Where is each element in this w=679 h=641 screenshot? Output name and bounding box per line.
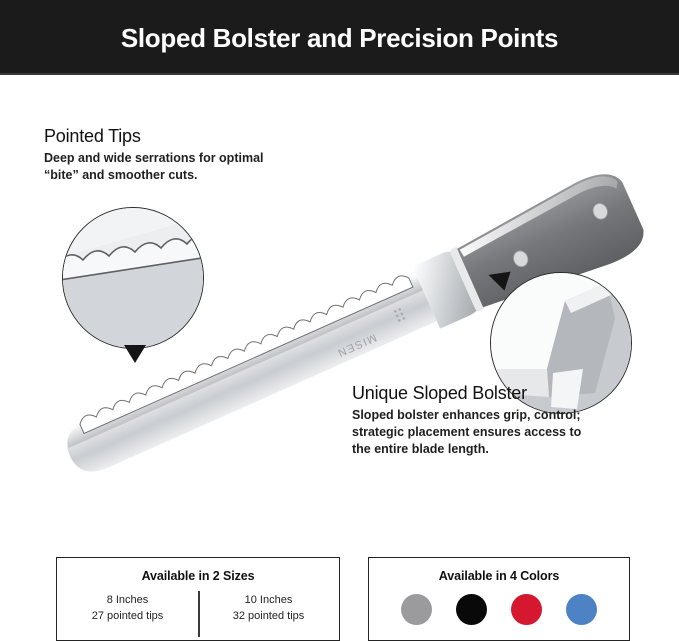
callout-body-sloped-bolster: Sloped bolster enhances grip, control; s…: [352, 407, 592, 458]
page-title: Sloped Bolster and Precision Points: [121, 25, 558, 51]
size-option-10in: 10 Inches 32 pointed tips: [198, 593, 339, 624]
callout-body-pointed-tips: Deep and wide serrations for optimal “bi…: [44, 150, 294, 184]
sizes-columns: 8 Inches 27 pointed tips 10 Inches 32 po…: [57, 593, 339, 624]
color-swatch-black[interactable]: [456, 594, 487, 625]
header-banner: Sloped Bolster and Precision Points: [0, 0, 679, 75]
size-option-8in: 8 Inches 27 pointed tips: [57, 593, 198, 624]
callout-pointed-tips: Pointed Tips Deep and wide serrations fo…: [44, 126, 294, 184]
size-tips-10in: 32 pointed tips: [198, 609, 339, 625]
callout-sloped-bolster: Unique Sloped Bolster Sloped bolster enh…: [352, 383, 592, 458]
callout-heading-pointed-tips: Pointed Tips: [44, 126, 294, 147]
color-swatch-red[interactable]: [511, 594, 542, 625]
header-divider: [0, 73, 679, 75]
size-label-10in: 10 Inches: [198, 593, 339, 609]
pointer-tips: [124, 345, 146, 363]
infographic-canvas: Sloped Bolster and Precision Points: [0, 0, 679, 641]
size-label-8in: 8 Inches: [57, 593, 198, 609]
color-swatch-row: [369, 594, 629, 625]
size-tips-8in: 27 pointed tips: [57, 609, 198, 625]
available-sizes-box: Available in 2 Sizes 8 Inches 27 pointed…: [56, 557, 340, 641]
sizes-box-title: Available in 2 Sizes: [57, 569, 339, 583]
magnifier-pointed-tips: [62, 207, 204, 349]
color-swatch-blue[interactable]: [566, 594, 597, 625]
sizes-divider: [198, 591, 200, 637]
colors-box-title: Available in 4 Colors: [369, 569, 629, 583]
available-colors-box: Available in 4 Colors: [368, 557, 630, 641]
callout-heading-sloped-bolster: Unique Sloped Bolster: [352, 383, 592, 404]
color-swatch-gray[interactable]: [401, 594, 432, 625]
